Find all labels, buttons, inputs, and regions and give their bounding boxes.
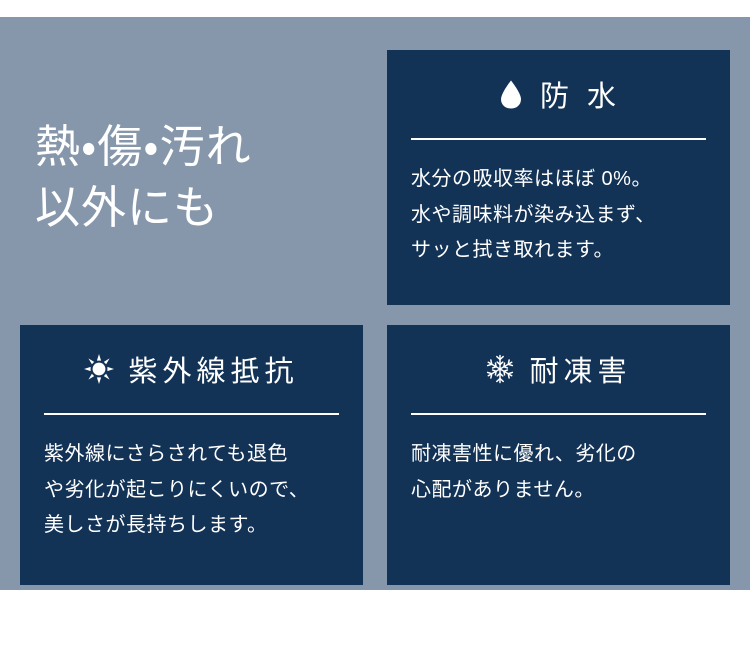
panel-body-line: 水や調味料が染み込まず、 xyxy=(411,198,706,234)
panel-body-line: 紫外線にさらされても退色 xyxy=(44,437,339,473)
panel-header-waterproof: 防 水 xyxy=(411,50,706,138)
panel-title-waterproof: 防 水 xyxy=(540,73,621,115)
panel-divider-waterproof xyxy=(411,138,706,140)
panel-body-freeze-resistance: 耐凍害性に優れ、劣化の 心配がありません。 xyxy=(411,437,706,508)
snowflake-icon xyxy=(485,354,515,384)
feature-panel-freeze-resistance: 耐凍害 耐凍害性に優れ、劣化の 心配がありません。 xyxy=(387,325,730,585)
panel-body-line: 美しさが長持ちします。 xyxy=(44,508,339,544)
headline-line-1: 熱・傷・汚れ xyxy=(35,117,363,178)
panel-divider-freeze-resistance xyxy=(411,413,706,415)
panel-header-uv-resistance: 紫外線抵抗 xyxy=(44,325,339,413)
headline-block: 熱・傷・汚れ 以外にも xyxy=(20,50,363,305)
panel-body-line: 耐凍害性に優れ、劣化の xyxy=(411,437,706,473)
panel-body-line: 心配がありません。 xyxy=(411,473,706,509)
panel-body-uv-resistance: 紫外線にさらされても退色 や劣化が起こりにくいので、 美しさが長持ちします。 xyxy=(44,437,339,544)
sun-icon xyxy=(84,354,114,384)
panel-body-line: や劣化が起こりにくいので、 xyxy=(44,473,339,509)
water-drop-icon xyxy=(496,79,526,109)
panel-title-uv-resistance: 紫外線抵抗 xyxy=(128,348,298,390)
panel-body-waterproof: 水分の吸収率はほぼ 0%。 水や調味料が染み込まず、 サッと拭き取れます。 xyxy=(411,162,706,269)
feature-panel-uv-resistance: 紫外線抵抗 紫外線にさらされても退色 や劣化が起こりにくいので、 美しさが長持ち… xyxy=(20,325,363,585)
panel-body-line: 水分の吸収率はほぼ 0%。 xyxy=(411,162,706,198)
panel-header-freeze-resistance: 耐凍害 xyxy=(411,325,706,413)
gray-canvas: 熱・傷・汚れ 以外にも 防 水 水分の吸収率はほぼ 0%。 水や調味料が染み込ま… xyxy=(0,17,750,590)
panel-title-freeze-resistance: 耐凍害 xyxy=(529,348,631,390)
feature-panel-waterproof: 防 水 水分の吸収率はほぼ 0%。 水や調味料が染み込まず、 サッと拭き取れます… xyxy=(387,50,730,305)
headline-line-2: 以外にも xyxy=(35,178,363,239)
panel-divider-uv-resistance xyxy=(44,413,339,415)
panel-body-line: サッと拭き取れます。 xyxy=(411,233,706,269)
